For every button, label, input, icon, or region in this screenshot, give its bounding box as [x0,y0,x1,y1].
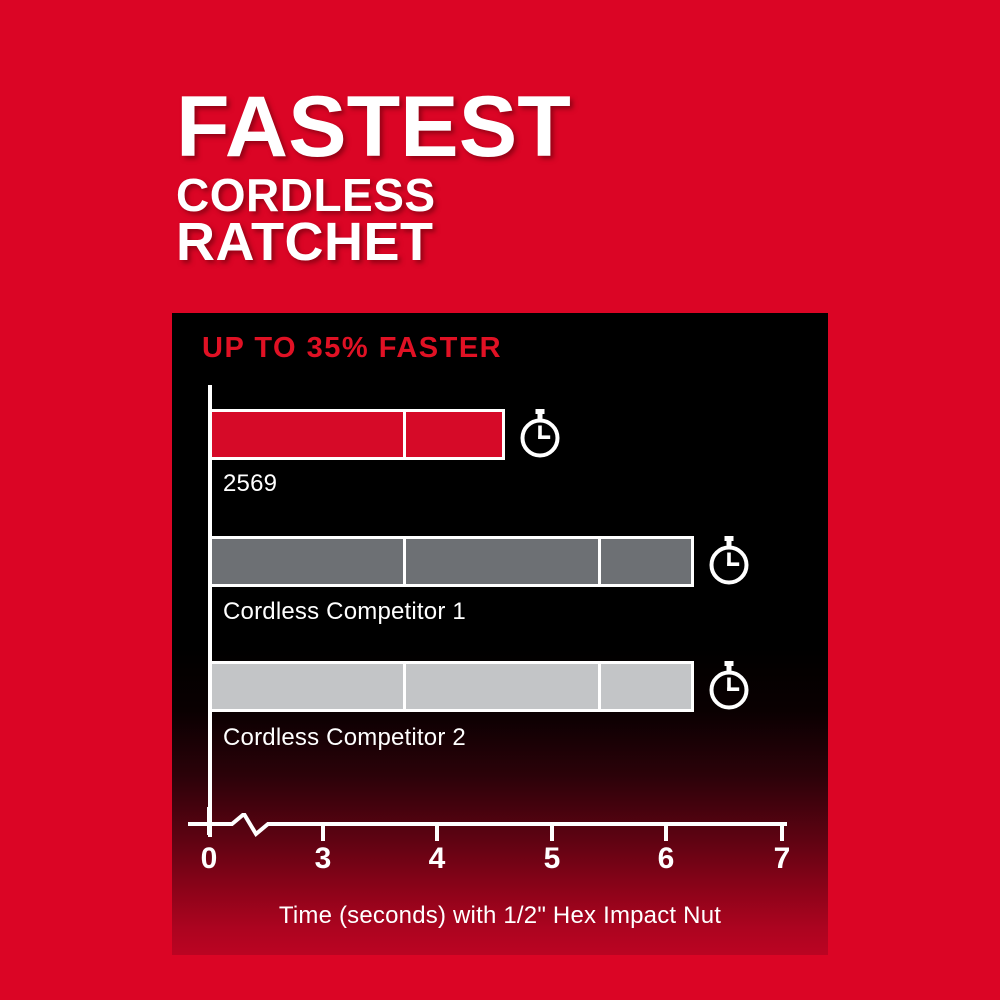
headline-line-fastest: FASTEST [176,88,890,167]
headline-line-ratchet: RATCHET [176,218,876,268]
stopwatch-icon [706,536,752,586]
x-tick-label-5: 5 [544,842,561,876]
chart-panel: UP TO 35% FASTER 2569 [172,313,828,955]
bar-segment [403,539,598,584]
x-tick-label-7: 7 [774,842,791,876]
bar-segment [212,412,403,457]
x-tick-label-3: 3 [315,842,332,876]
bar-segment [598,664,691,709]
x-tick-5 [550,824,554,841]
bar-segment [212,539,403,584]
x-axis-caption: Time (seconds) with 1/2" Hex Impact Nut [172,902,828,930]
x-tick-label-6: 6 [658,842,675,876]
x-tick-3 [321,824,325,841]
x-tick-4 [435,824,439,841]
x-axis-line [172,813,787,843]
bar-cordless-competitor-1 [209,536,694,587]
headline-block: FASTEST CORDLESS RATCHET [176,88,876,268]
bar-segment [212,664,403,709]
bar-label-2569: 2569 [223,470,277,498]
bar-label-cordless-competitor-2: Cordless Competitor 2 [223,724,466,752]
headline-line-cordless: CORDLESS [176,174,876,216]
x-tick-6 [664,824,668,841]
bar-label-cordless-competitor-1: Cordless Competitor 1 [223,598,466,626]
bar-segment [403,412,502,457]
x-tick-label-4: 4 [429,842,446,876]
bar-segment [403,664,598,709]
x-tick-0 [207,807,211,835]
bar-cordless-competitor-2 [209,661,694,712]
bar-segment [598,539,691,584]
stopwatch-icon [517,409,563,459]
plot-area: 2569 Cordless Competitor 1 [172,313,828,955]
stopwatch-icon [706,661,752,711]
bar-2569 [209,409,505,460]
x-tick-label-0: 0 [201,842,218,876]
x-tick-7 [780,824,784,841]
